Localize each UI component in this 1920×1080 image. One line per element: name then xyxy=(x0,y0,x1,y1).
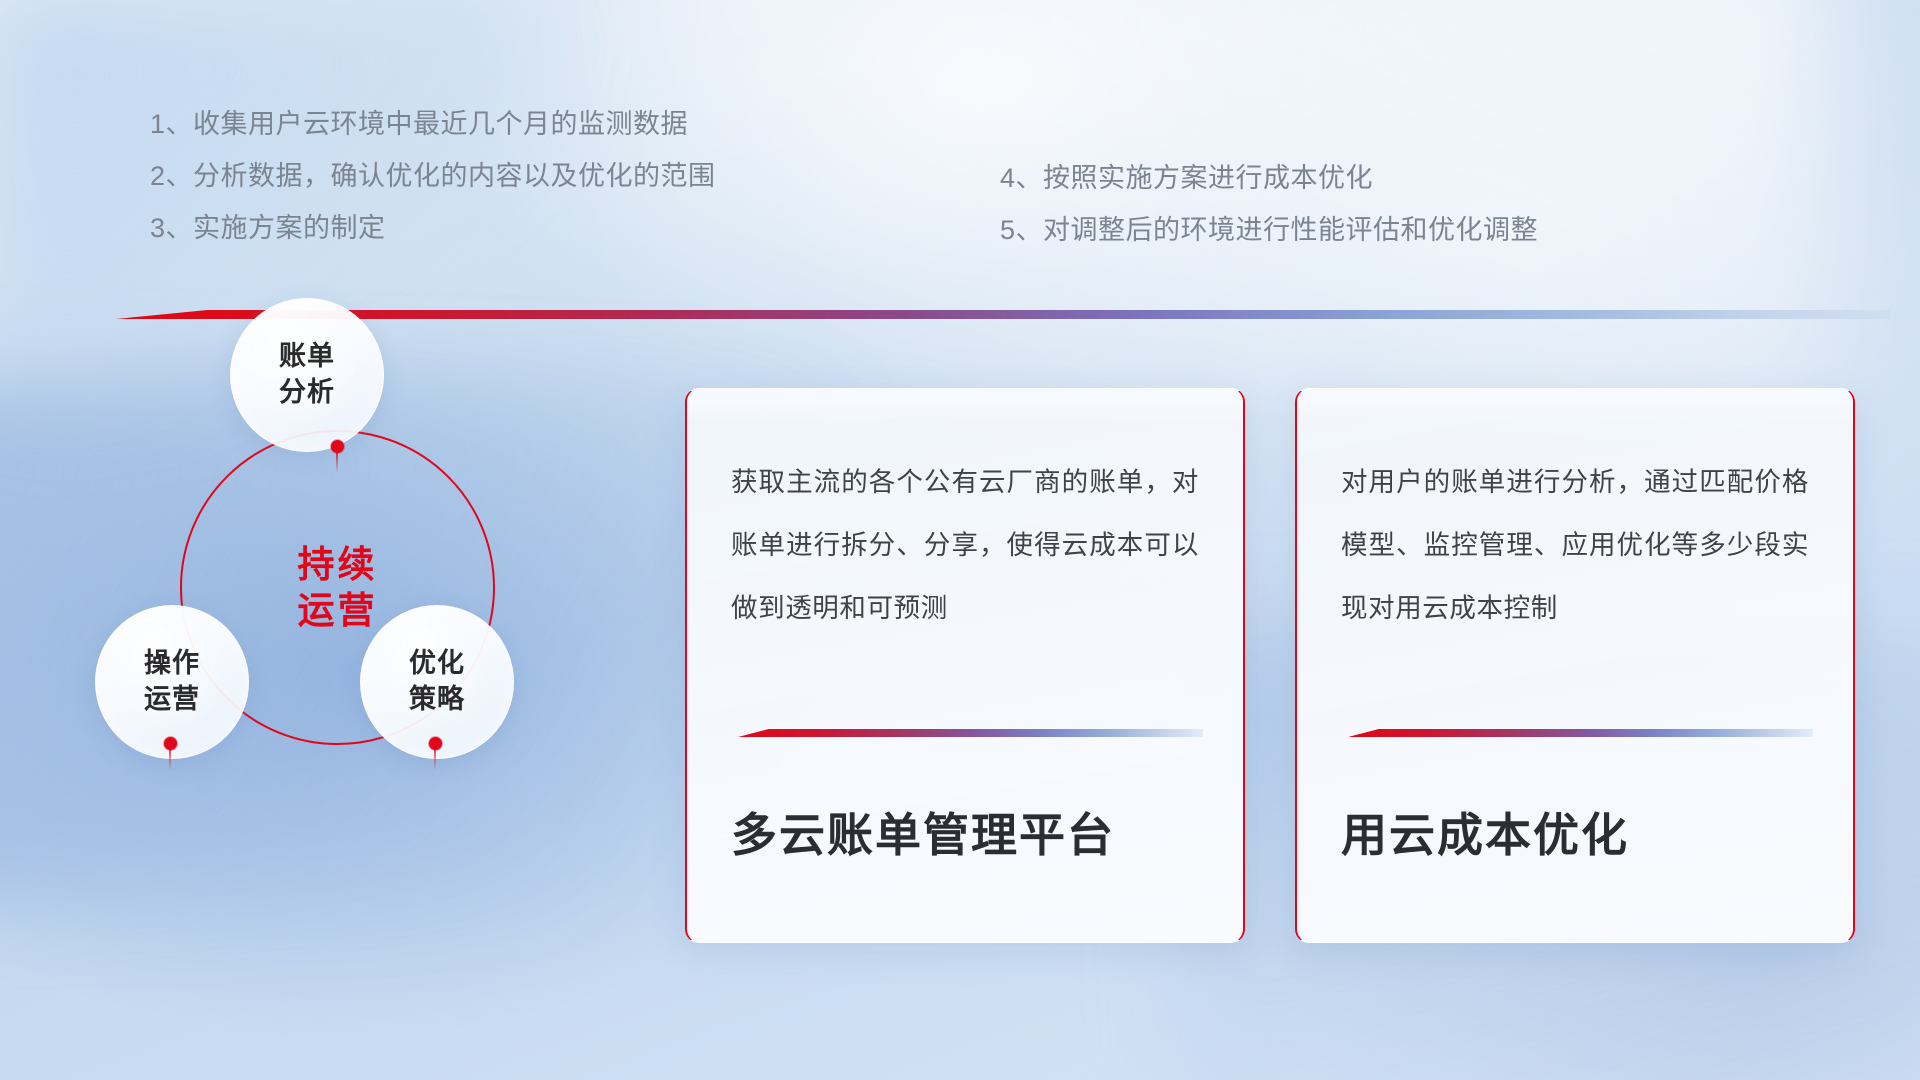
venn-dot-top xyxy=(331,440,344,453)
card-2-body: 对用户的账单进行分析，通过匹配价格模型、监控管理、应用优化等多少段实现对用云成本… xyxy=(1341,451,1809,706)
venn-dot-bottom-right xyxy=(429,737,442,750)
card-1-body: 获取主流的各个公有云厂商的账单，对账单进行拆分、分享，使得云成本可以做到透明和可… xyxy=(731,451,1199,706)
card-cloud-cost-optimization[interactable]: 对用户的账单进行分析，通过匹配价格模型、监控管理、应用优化等多少段实现对用云成本… xyxy=(1295,388,1855,943)
venn-dot-bottom-left xyxy=(164,737,177,750)
card-2-divider xyxy=(1341,729,1813,737)
venn-node-top-line1: 账单 xyxy=(279,339,335,375)
venn-node-optimization-strategy[interactable]: 优化 策略 xyxy=(360,605,514,759)
card-2-title: 用云成本优化 xyxy=(1341,799,1629,865)
step-item-3: 3、实施方案的制定 xyxy=(150,202,870,254)
venn-node-bottom-right-line1: 优化 xyxy=(409,646,465,682)
venn-diagram: 持续 运营 账单 分析 操作 运营 优化 策略 xyxy=(75,290,595,790)
step-item-2: 2、分析数据，确认优化的内容以及优化的范围 xyxy=(150,150,870,202)
venn-node-bottom-left-line2: 运营 xyxy=(144,682,200,718)
step-item-1: 1、收集用户云环境中最近几个月的监测数据 xyxy=(150,98,870,150)
step-item-5: 5、对调整后的环境进行性能评估和优化调整 xyxy=(1000,204,1760,256)
card-multi-cloud-billing[interactable]: 获取主流的各个公有云厂商的账单，对账单进行拆分、分享，使得云成本可以做到透明和可… xyxy=(685,388,1245,943)
venn-node-operations[interactable]: 操作 运营 xyxy=(95,605,249,759)
venn-connector-bottom-right xyxy=(434,748,436,770)
steps-left-column: 1、收集用户云环境中最近几个月的监测数据 2、分析数据，确认优化的内容以及优化的… xyxy=(150,98,870,254)
venn-connector-bottom-left xyxy=(169,748,171,770)
card-1-title: 多云账单管理平台 xyxy=(731,799,1115,865)
venn-node-bottom-left-line1: 操作 xyxy=(144,646,200,682)
venn-node-top-line2: 分析 xyxy=(279,375,335,411)
slide-canvas: 1、收集用户云环境中最近几个月的监测数据 2、分析数据，确认优化的内容以及优化的… xyxy=(0,0,1920,1080)
venn-node-bottom-right-line2: 策略 xyxy=(409,682,465,718)
venn-node-billing-analysis[interactable]: 账单 分析 xyxy=(230,298,384,452)
card-2-divider-bar xyxy=(1341,729,1813,737)
card-1-divider xyxy=(731,729,1203,737)
steps-right-column: 4、按照实施方案进行成本优化 5、对调整后的环境进行性能评估和优化调整 xyxy=(1000,152,1760,256)
card-1-divider-bar xyxy=(731,729,1203,737)
step-item-4: 4、按照实施方案进行成本优化 xyxy=(1000,152,1760,204)
venn-connector-top xyxy=(336,451,338,473)
